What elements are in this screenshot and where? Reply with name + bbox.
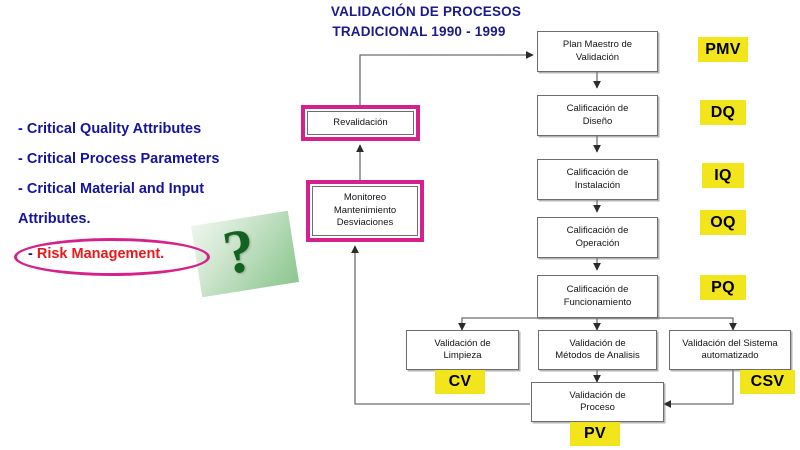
risk-management-callout: - Risk Management. [14,238,214,276]
bullet-item-3: - Critical Material and Input [18,174,280,204]
tag-cv: CV [435,370,485,394]
risk-dash: - [28,246,37,262]
box-calificacion-de-instalacion[interactable]: Calificación de Instalación [537,159,658,200]
box-revalidacion-inner: Revalidación [307,111,414,135]
box-line-2: Métodos de Analisis [555,350,640,361]
box-line-2: automatizado [701,350,758,361]
tag-pq: PQ [700,275,746,300]
slide-canvas: VALIDACIÓN DE PROCESOS TRADICIONAL 1990 … [0,0,800,450]
question-mark-icon: ? [219,219,259,285]
box-line-1: Validación del Sistema [682,338,777,349]
box-line-1: Monitoreo [344,192,386,203]
box-line-1: Calificación de [567,284,629,295]
box-line-1: Calificación de [567,225,629,236]
box-line-2: Instalación [575,180,620,191]
box-validacion-del-sistema-automatizado[interactable]: Validación del Sistema automatizado [669,330,791,370]
box-calificacion-de-diseno[interactable]: Calificación de Diseño [537,95,658,136]
box-line-2: Proceso [580,402,615,413]
tag-iq: IQ [702,163,744,188]
box-line-1: Validación de [569,390,625,401]
box-line-3: Desviaciones [337,217,394,228]
box-line-1: Calificación de [567,103,629,114]
box-line-1: Revalidación [333,117,387,130]
tag-pmv: PMV [698,37,748,62]
box-plan-maestro-de-validacion[interactable]: Plan Maestro de Validación [537,31,658,72]
box-line-1: Validación de [434,338,490,349]
box-line-2: Diseño [583,116,613,127]
box-line-2: Limpieza [443,350,481,361]
box-line-2: Operación [576,238,620,249]
tag-oq: OQ [700,210,746,235]
box-calificacion-de-operacion[interactable]: Calificación de Operación [537,217,658,258]
attributes-bullet-list: - Critical Quality Attributes - Critical… [18,114,280,234]
box-validacion-de-metodos-de-analisis[interactable]: Validación de Métodos de Analisis [538,330,657,370]
box-revalidacion[interactable]: Revalidación [301,105,420,141]
box-line-2: Validación [576,52,619,63]
box-monitoreo-inner: Monitoreo Mantenimiento Desviaciones [312,186,418,236]
tag-csv: CSV [740,370,795,394]
slide-title: VALIDACIÓN DE PROCESOS TRADICIONAL 1990 … [296,2,556,42]
box-line-1: Calificación de [567,167,629,178]
box-line-2: Mantenimiento [334,205,396,216]
risk-management-text: - Risk Management. [28,246,164,262]
tag-pv: PV [570,422,620,446]
risk-management-label: Risk Management. [37,246,164,262]
box-validacion-de-limpieza[interactable]: Validación de Limpieza [406,330,519,370]
box-line-1: Validación de [569,338,625,349]
box-validacion-de-proceso[interactable]: Validación de Proceso [531,382,664,422]
title-line-2: TRADICIONAL 1990 - 1999 [296,22,556,42]
box-calificacion-de-funcionamiento[interactable]: Calificación de Funcionamiento [537,275,658,318]
bullet-item-1: - Critical Quality Attributes [18,114,280,144]
tag-dq: DQ [700,100,746,125]
bullet-item-2: - Critical Process Parameters [18,144,280,174]
box-monitoreo-mantenimiento-desviaciones[interactable]: Monitoreo Mantenimiento Desviaciones [306,180,424,242]
title-line-1: VALIDACIÓN DE PROCESOS [296,2,556,22]
box-line-1: Plan Maestro de [563,39,632,50]
box-line-2: Funcionamiento [564,297,632,308]
